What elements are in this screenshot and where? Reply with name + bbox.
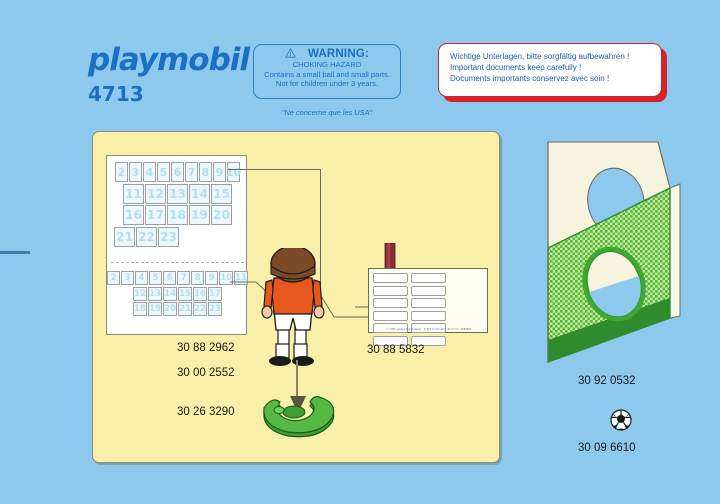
sticker-number: 21 — [178, 302, 192, 316]
part-number-30-09-6610: 30 09 6610 — [578, 442, 636, 454]
sticker-number: 5 — [149, 271, 162, 285]
documents-box: Wichtige Unterlagen, bitte sorgfältig au… — [438, 43, 662, 97]
green-stand-base — [258, 392, 338, 440]
sticker-number: 17 — [145, 205, 166, 225]
sticker-number: 11 — [123, 184, 144, 204]
scorecard-cell — [373, 286, 408, 296]
sticker-number: 9 — [205, 271, 218, 285]
sticker-number: 12 — [133, 287, 147, 301]
leader-line-shirt-tick — [228, 169, 252, 170]
sticker-sheet-divider — [111, 262, 244, 263]
sticker-number: 6 — [163, 271, 176, 285]
scorecard-fine-print: © 2005 geobra Brandstätter · D-96472 Zir… — [369, 328, 489, 331]
scorecard-cell — [373, 311, 408, 321]
warning-title-row: WARNING: — [254, 48, 400, 60]
sticker-number: 18 — [133, 302, 147, 316]
part-number-30-88-2962: 30 88 2962 — [177, 342, 235, 354]
crop-mark-left — [0, 251, 30, 254]
sticker-number: 18 — [167, 205, 188, 225]
sticker-number: 20 — [163, 302, 177, 316]
sticker-number: 3 — [121, 271, 134, 285]
scorecard-cell — [411, 311, 446, 321]
sticker-section-top: 2 3 4 5 6 7 8 9 10 11 12 13 14 15 16 17 … — [107, 162, 248, 248]
sticker-number: 2 — [107, 271, 120, 285]
sticker-number: 7 — [185, 162, 198, 182]
sticker-number: 14 — [189, 184, 210, 204]
sticker-number: 8 — [191, 271, 204, 285]
soccer-player-figure — [258, 248, 328, 368]
sticker-row: 21 22 23 — [107, 227, 248, 247]
sticker-number: 19 — [148, 302, 162, 316]
sticker-number: 2 — [115, 162, 128, 182]
scorecard-cell — [373, 273, 408, 283]
sticker-section-bottom: 2 3 4 5 6 7 8 9 10 11 12 13 14 15 16 17 … — [107, 271, 248, 318]
sticker-number: 22 — [136, 227, 157, 247]
documents-line-en: Important documents keep carefully ! — [450, 62, 661, 73]
sticker-row: 18 19 20 21 22 23 — [107, 302, 248, 316]
sticker-number: 22 — [193, 302, 207, 316]
goal-net-panel — [530, 140, 705, 370]
sticker-row: 11 12 13 14 15 — [107, 184, 248, 204]
part-number-30-92-0532: 30 92 0532 — [578, 375, 636, 387]
instruction-sheet-page: playmobil 4713 WARNING: CHOKING HAZARD C… — [0, 0, 720, 504]
sticker-sheet: 2 3 4 5 6 7 8 9 10 11 12 13 14 15 16 17 … — [106, 155, 247, 335]
part-number-30-00-2552: 30 00 2552 — [177, 367, 235, 379]
scorecard-grid — [373, 273, 483, 346]
sticker-number: 13 — [167, 184, 188, 204]
sticker-row: 2 3 4 5 6 7 8 9 10 — [107, 162, 248, 182]
sticker-number: 7 — [177, 271, 190, 285]
warning-box: WARNING: CHOKING HAZARD Contains a small… — [253, 44, 401, 99]
sticker-number: 4 — [143, 162, 156, 182]
sticker-number: 8 — [199, 162, 212, 182]
sticker-number: 15 — [178, 287, 192, 301]
documents-line-fr: Documents importants conservez avec soin… — [450, 73, 661, 84]
sticker-row: 16 17 18 19 20 — [107, 205, 248, 225]
warning-line-3: Not for children under 3 years. — [254, 79, 400, 89]
sticker-number: 19 — [189, 205, 210, 225]
sticker-row: 12 13 14 15 16 17 — [107, 287, 248, 301]
warning-triangle-icon — [285, 48, 296, 60]
scorecard-cell — [411, 298, 446, 308]
scorecard-cell — [373, 298, 408, 308]
scorecard-cell — [411, 273, 446, 283]
warning-title: WARNING: — [308, 48, 369, 60]
sticker-number: 9 — [213, 162, 226, 182]
sticker-number: 14 — [163, 287, 177, 301]
sticker-row: 2 3 4 5 6 7 8 9 10 11 — [107, 271, 248, 285]
sticker-number: 5 — [157, 162, 170, 182]
soccer-ball — [610, 409, 632, 431]
part-number-30-88-5832: 30 88 5832 — [367, 344, 425, 356]
part-number-30-26-3290: 30 26 3290 — [177, 406, 235, 418]
sticker-number: 16 — [193, 287, 207, 301]
scorecard-cell — [411, 286, 446, 296]
sticker-number: 6 — [171, 162, 184, 182]
sticker-number: 3 — [129, 162, 142, 182]
sticker-number: 23 — [208, 302, 222, 316]
warning-footnote: "Ne concerne que les USA" — [253, 108, 401, 117]
sticker-number: 12 — [145, 184, 166, 204]
sticker-number: 23 — [158, 227, 179, 247]
sticker-number: 4 — [135, 271, 148, 285]
sticker-number: 16 — [123, 205, 144, 225]
sticker-number: 21 — [114, 227, 135, 247]
documents-line-de: Wichtige Unterlagen, bitte sorgfältig au… — [450, 51, 661, 62]
warning-line-2: Contains a small ball and small parts. — [254, 70, 400, 80]
sticker-number: 17 — [208, 287, 222, 301]
warning-line-1: CHOKING HAZARD — [254, 60, 400, 70]
sticker-number: 13 — [148, 287, 162, 301]
scorecard: © 2005 geobra Brandstätter · D-96472 Zir… — [368, 268, 488, 333]
